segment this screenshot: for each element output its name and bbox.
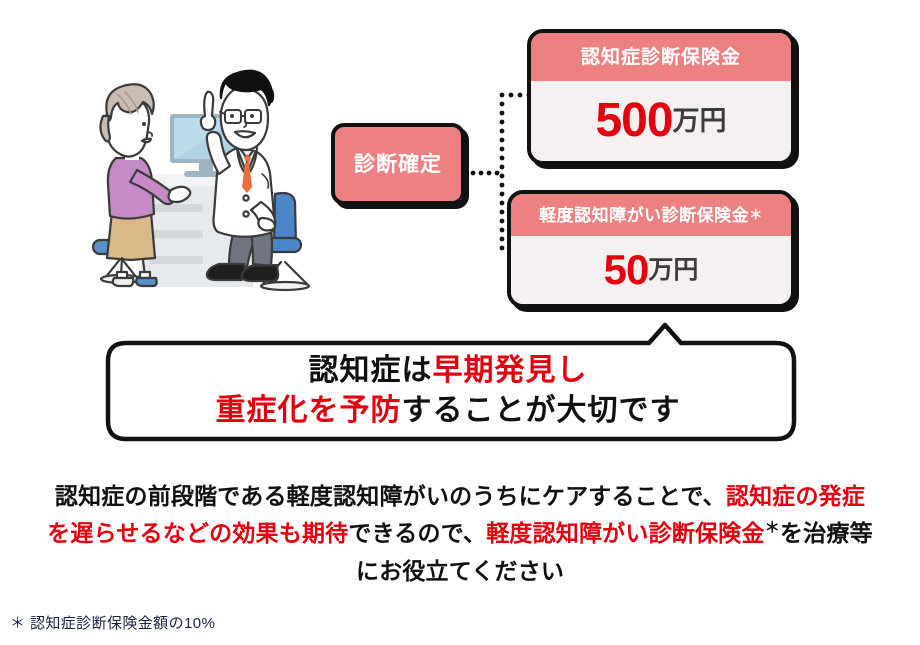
paragraph-line3-black: にお役立てください bbox=[356, 558, 564, 584]
speech-bubble-line1-red: 早期発見し bbox=[433, 354, 588, 387]
benefit-card-mci-amount: 50 bbox=[604, 249, 649, 291]
paragraph-line2-black-a: できるので、 bbox=[348, 520, 486, 546]
paragraph-line2-black-b: を治療等 bbox=[780, 520, 873, 546]
doctor-patient-consultation-illustration bbox=[85, 62, 335, 307]
speech-bubble-text: 認知症は早期発見し 重症化を予防することが大切です bbox=[104, 351, 792, 431]
speech-bubble-line-2: 重症化を予防することが大切です bbox=[104, 391, 792, 431]
benefit-card-dementia: 認知症診断保険金 500万円 bbox=[527, 29, 795, 165]
paragraph-asterisk: ＊ bbox=[765, 520, 780, 537]
benefit-card-mci-body: 50万円 bbox=[511, 236, 791, 304]
benefit-card-dementia-body: 500万円 bbox=[531, 81, 791, 161]
body-paragraph: 認知症の前段階である軽度認知障がいのうちにケアすることで、認知症の発症 を遅らせ… bbox=[8, 478, 912, 590]
paragraph-line2-red-b: 軽度認知障がい診断保険金 bbox=[486, 520, 764, 546]
speech-bubble-line2-black: することが大切です bbox=[402, 394, 681, 427]
speech-bubble-line1-black: 認知症は bbox=[309, 354, 433, 387]
paragraph-line2-red-a: を遅らせるなどの効果も期待 bbox=[47, 520, 348, 546]
benefit-card-mci-header-asterisk: ＊ bbox=[749, 208, 763, 221]
diagram-stage: 診断確定 bbox=[0, 0, 920, 460]
speech-bubble: 認知症は早期発見し 重症化を予防することが大切です bbox=[104, 321, 798, 447]
speech-bubble-line2-red: 重症化を予防 bbox=[216, 394, 402, 427]
benefit-card-mci-header-label: 軽度認知障がい診断保険金 bbox=[539, 207, 749, 224]
benefit-card-dementia-amount: 500 bbox=[595, 97, 672, 145]
paragraph-line1-black: 認知症の前段階である軽度認知障がいのうちにケアすることで、 bbox=[55, 483, 726, 509]
paragraph-line-2: を遅らせるなどの効果も期待できるので、軽度認知障がい診断保険金＊を治療等 bbox=[8, 515, 912, 552]
benefit-card-mci: 軽度認知障がい診断保険金＊ 50万円 bbox=[507, 190, 795, 308]
speech-bubble-line-1: 認知症は早期発見し bbox=[104, 351, 792, 391]
footnote: ＊ 認知症診断保険金額の10% bbox=[10, 612, 215, 633]
benefit-card-dementia-header-label: 認知症診断保険金 bbox=[581, 48, 741, 67]
benefit-card-mci-unit: 万円 bbox=[648, 258, 698, 283]
diagnosis-confirmed-label: 診断確定 bbox=[354, 154, 442, 175]
benefit-card-dementia-header: 認知症診断保険金 bbox=[531, 33, 791, 81]
paragraph-line-1: 認知症の前段階である軽度認知障がいのうちにケアすることで、認知症の発症 bbox=[8, 478, 912, 515]
benefit-card-mci-header: 軽度認知障がい診断保険金＊ bbox=[511, 194, 791, 236]
paragraph-line-3: にお役立てください bbox=[8, 553, 912, 590]
diagnosis-confirmed-box: 診断確定 bbox=[331, 123, 465, 205]
benefit-card-dementia-unit: 万円 bbox=[673, 108, 727, 135]
paragraph-line1-red: 認知症の発症 bbox=[726, 483, 865, 509]
